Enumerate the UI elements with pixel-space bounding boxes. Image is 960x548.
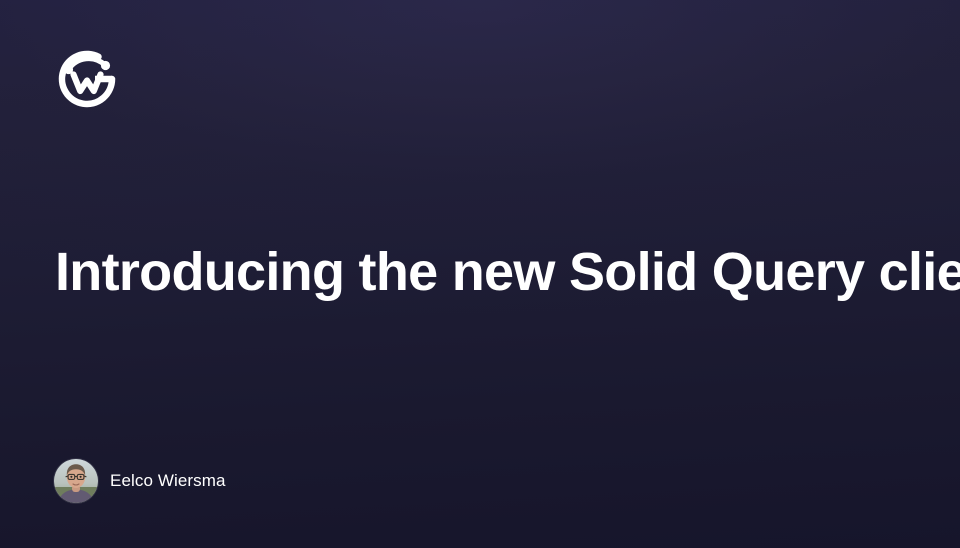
author-name: Eelco Wiersma [110, 471, 226, 491]
slide-title: Introducing the new Solid Query client [55, 240, 915, 304]
presentation-slide: Introducing the new Solid Query client [0, 0, 960, 548]
brand-logo [55, 47, 119, 111]
avatar [54, 459, 98, 503]
avatar-portrait-icon [54, 459, 98, 503]
author-byline: Eelco Wiersma [54, 459, 226, 503]
wiersma-orbit-icon [55, 47, 119, 111]
